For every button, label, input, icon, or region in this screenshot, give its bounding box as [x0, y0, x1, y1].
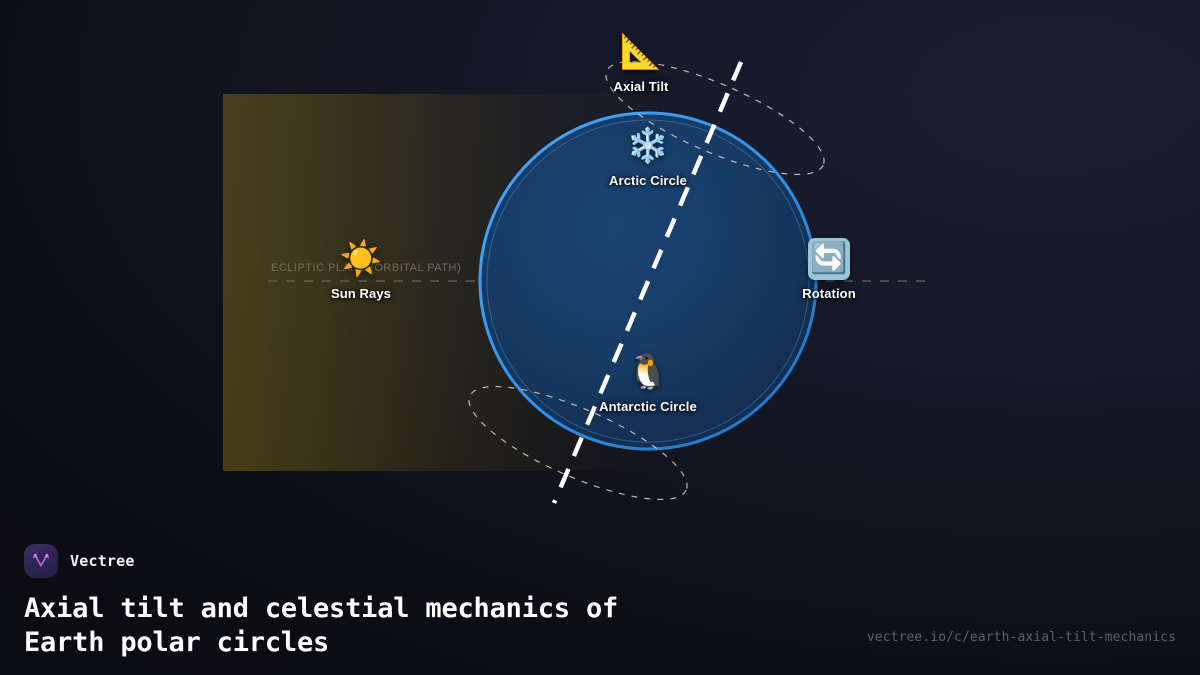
poster-footer: Vectree Axial tilt and celestial mechani… [0, 520, 1200, 675]
brand-row: Vectree [24, 544, 1176, 578]
diagram-stage: ECLIPTIC PLANE (ORBITAL PATH) 📐 Axial Ti… [0, 0, 1200, 520]
page-title: Axial tilt and celestial mechanics of Ea… [24, 592, 854, 660]
source-url: vectree.io/c/earth-axial-tilt-mechanics [867, 630, 1176, 645]
vectree-logo-icon [24, 544, 58, 578]
diagram-node-label: Axial Tilt [614, 79, 669, 94]
diagram-node-rotation[interactable]: 🔄 Rotation [734, 239, 924, 301]
diagram-node-label: Antarctic Circle [599, 399, 697, 414]
rotation-arrows-icon: 🔄 [808, 238, 850, 280]
diagram-node-label: Sun Rays [331, 286, 391, 301]
penguin-icon: 🐧 [627, 352, 669, 392]
diagram-node-label: Rotation [802, 286, 856, 301]
snowflake-icon: ❄️ [627, 126, 669, 166]
triangular-ruler-icon: 📐 [620, 32, 662, 72]
sun-icon: ☀️ [340, 239, 382, 279]
diagram-node-sun-rays[interactable]: ☀️ Sun Rays [266, 239, 456, 301]
poster-canvas: ECLIPTIC PLANE (ORBITAL PATH) 📐 Axial Ti… [0, 0, 1200, 675]
diagram-node-axial-tilt[interactable]: 📐 Axial Tilt [546, 32, 736, 94]
rotation-icon-tile: 🔄 [808, 239, 850, 279]
diagram-node-arctic-circle[interactable]: ❄️ Arctic Circle [553, 126, 743, 188]
diagram-node-antarctic-circle[interactable]: 🐧 Antarctic Circle [553, 352, 743, 414]
brand-name: Vectree [70, 552, 135, 570]
diagram-node-label: Arctic Circle [609, 173, 687, 188]
